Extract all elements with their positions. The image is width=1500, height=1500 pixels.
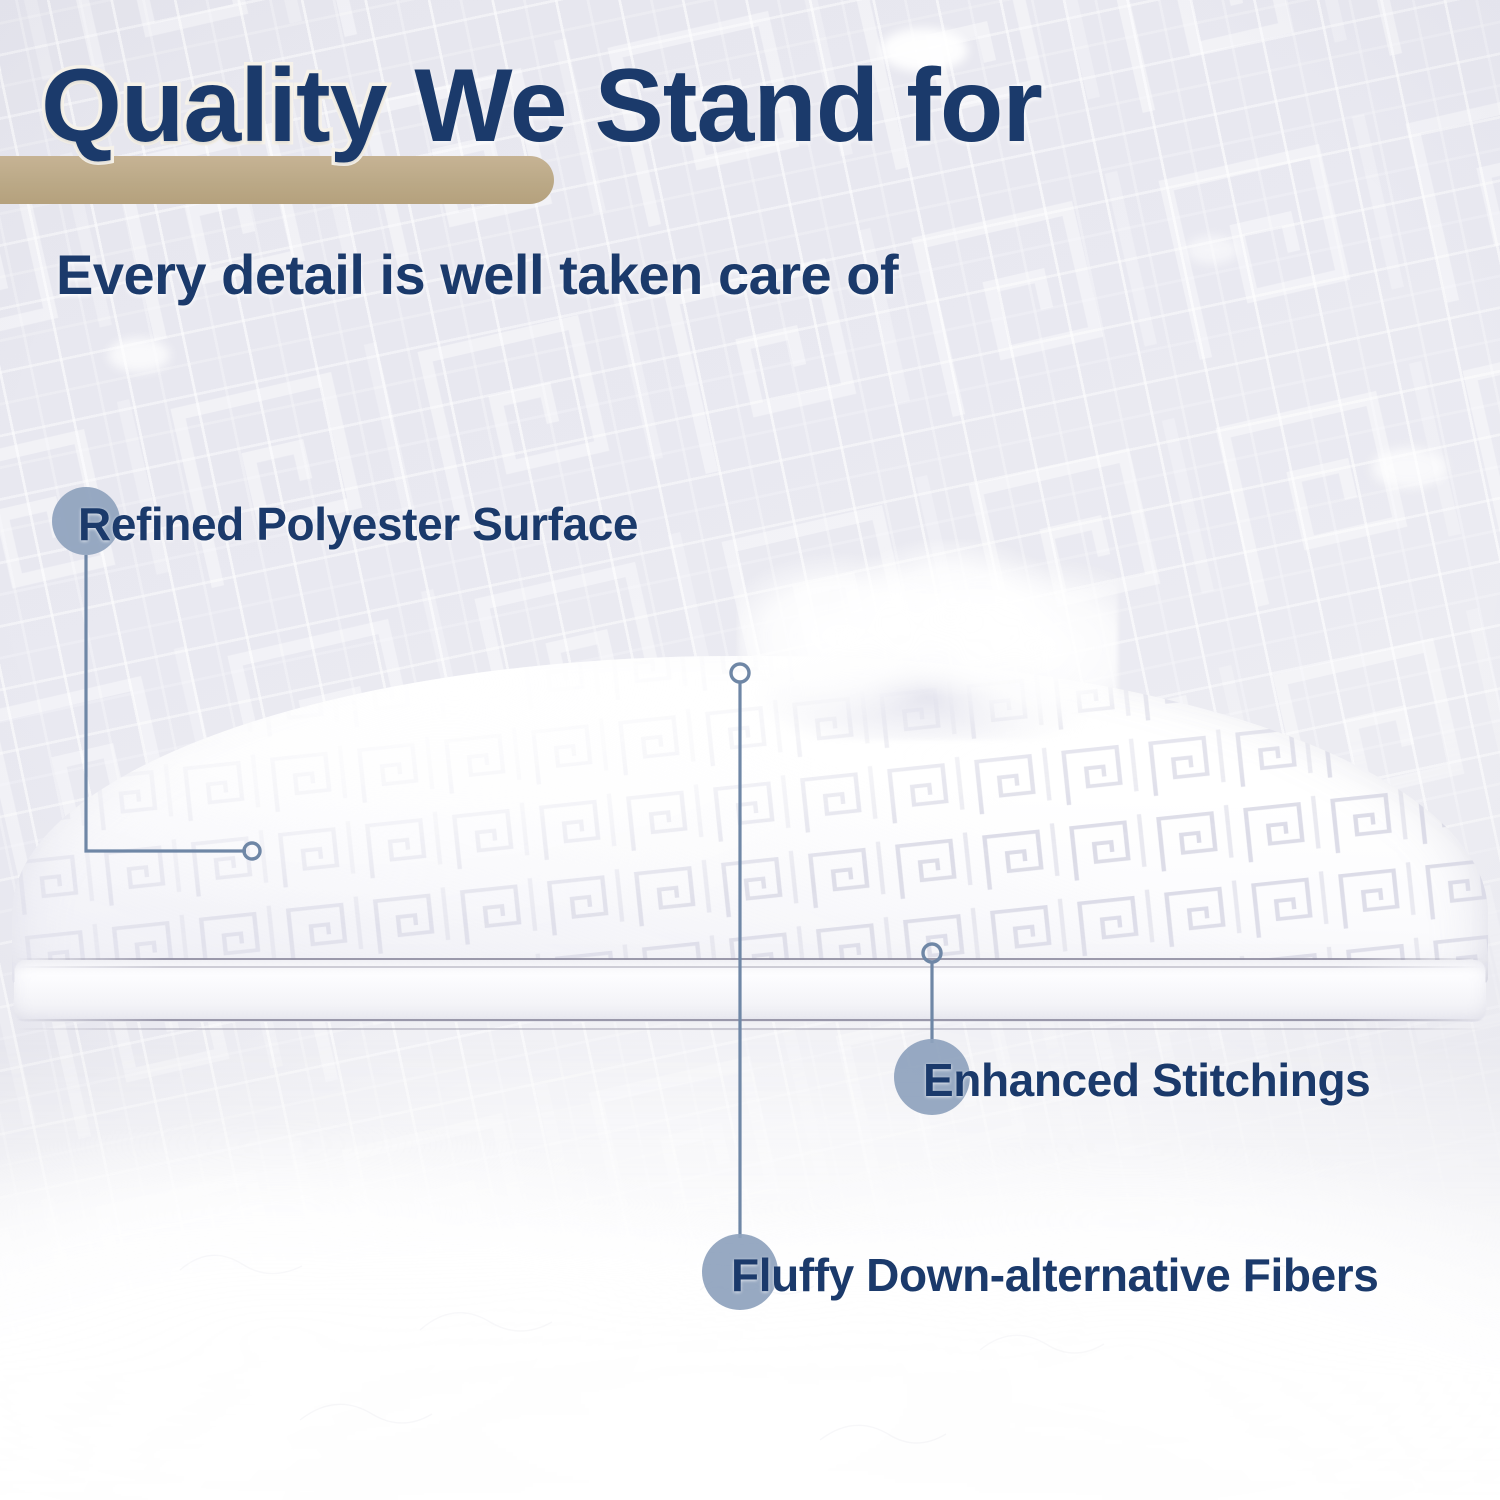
callout-label-enhanced-stitchings: Enhanced Stitchings xyxy=(923,1053,1370,1107)
callout-label-fluffy-down-alternative-fibers: Fluffy Down-alternative Fibers xyxy=(731,1248,1378,1302)
callout-label-refined-polyester-surface: Refined Polyester Surface xyxy=(78,497,638,551)
infographic-canvas: Quality We Stand for Every detail is wel… xyxy=(0,0,1500,1500)
marker-fluffy-down-alternative-fibers xyxy=(731,664,749,682)
marker-refined-polyester-surface xyxy=(244,843,260,859)
marker-enhanced-stitchings xyxy=(923,944,941,962)
leader-line-refined-polyester-surface xyxy=(86,555,246,851)
